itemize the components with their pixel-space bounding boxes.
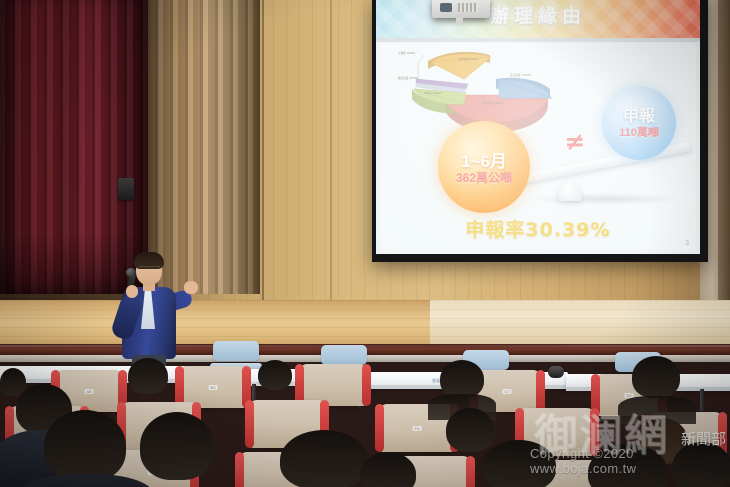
watermark-copyright: Copyright ©2020 www.boja.com.tw [530,446,728,476]
audience-head [44,410,126,482]
seat-number: F4 [413,426,422,431]
seat-armrest [536,370,545,412]
wall-speaker-icon [118,178,134,200]
seat-armrest [235,452,244,487]
presenter-glasses-icon [138,266,160,272]
blue-circle-line2: 110萬噸 [602,124,676,140]
seesaw-pivot [558,183,582,201]
seesaw-shadow [530,193,680,205]
screenshot-scene: 辦理緣由 [0,0,730,487]
presenter-right-hand [184,281,198,294]
pie-slice-label: 養殖漁業 300000 [398,76,418,80]
audience-head [446,408,494,452]
slide-title: 辦理緣由 [376,1,700,28]
pie-slice-label: 海水魚 400000 [424,91,441,95]
pie-slice-label: 土雜魚 100000 [398,51,415,55]
audience-head [632,356,680,398]
slide-title-divider [376,38,700,42]
wall-seam [330,0,332,300]
audience-head [440,360,484,398]
ceiling-projector [432,0,490,18]
seat-number: C7 [502,389,511,394]
orange-value-circle: 1~6月 362萬公噸 [438,121,530,213]
projection-screen: 辦理緣由 [376,0,700,254]
seat-number: B3 [209,385,218,390]
projector-lens-icon [440,3,452,12]
declaration-rate-text: 申報率30.39% [380,215,696,242]
wall-seam [262,0,264,300]
seat-number: A5 [85,389,94,394]
audience-head [128,358,168,394]
watermark: 御澜網 新聞部 Copyright ©2020 www.boja.com.tw [528,414,728,476]
blue-circle-line1: 申報 [602,102,676,126]
presenter-left-hand [126,285,138,298]
orange-circle-line2: 362萬公噸 [438,169,530,186]
stage-curtain-beige-folds [140,0,260,294]
audience-head [258,360,292,390]
pie-slice-label: 遠洋漁業 800000 [458,57,478,61]
slide-page-number: 3 [685,240,689,247]
audience-head [280,430,368,487]
seat-armrest [362,364,371,406]
microphone-icon [126,268,136,277]
projector-vent [458,3,478,12]
seat-armrest [375,404,384,452]
pie-slice-label: 近海漁業 1200000 [510,73,531,77]
blue-value-circle: 申報 110萬噸 [602,86,676,160]
pie-slice-label: 沿岸漁業 1500000 [482,101,503,105]
audience-head [140,412,214,480]
slide-body: 土雜魚 100000 遠洋漁業 800000 養殖漁業 300000 海水魚 4… [380,43,696,250]
seat-armrest [245,400,254,448]
seat-armrest [466,456,475,487]
right-wall-edge [718,0,730,300]
projector-mount [456,17,463,24]
not-equal-icon: ≠ [561,129,589,155]
